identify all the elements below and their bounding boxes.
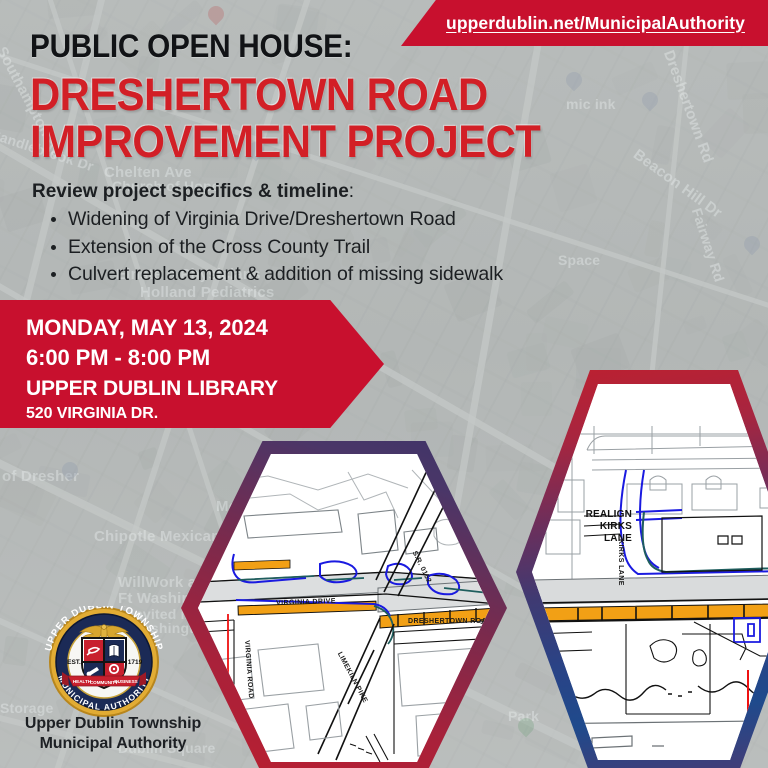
intro-colon: : [349,181,354,202]
event-time: 6:00 PM - 8:00 PM [26,342,384,373]
kicker-text: PUBLIC OPEN HOUSE: [30,30,625,63]
title-line-1: DRESHERTOWN ROAD [30,69,488,120]
event-details-banner: MONDAY, MAY 13, 2024 6:00 PM - 8:00 PM U… [0,300,384,428]
plan-drawing-right [532,384,768,760]
headline-block: PUBLIC OPEN HOUSE: DRESHERTOWN ROAD IMPR… [30,30,670,165]
township-seal: UPPER DUBLIN TOWNSHIP MUNICIPAL AUTHORIT… [34,606,174,718]
intro-line: Review project specifics & timeline: [32,181,354,203]
event-address: 520 VIRGINIA DR. [26,404,384,425]
seal-est-year: 1719 [128,659,143,666]
project-scope-list: Widening of Virginia Drive/Dreshertown R… [48,206,503,289]
list-item: Culvert replacement & addition of missin… [48,261,503,289]
seal-ribbon-right: BUSINESS [114,679,138,684]
org-line-1: Upper Dublin Township [25,715,201,732]
page-title: DRESHERTOWN ROAD IMPROVEMENT PROJECT [30,72,625,165]
seal-graphic: UPPER DUBLIN TOWNSHIP MUNICIPAL AUTHORIT… [34,606,174,718]
list-item: Extension of the Cross County Trail [48,234,503,262]
list-item: Widening of Virginia Drive/Dreshertown R… [48,206,503,234]
event-venue: UPPER DUBLIN LIBRARY [26,375,384,404]
flyer-poster: Southampton RdSandlebrook DrDreshertown … [0,0,768,768]
intro-lead: Review project specifics & timeline [32,181,349,202]
event-date: MONDAY, MAY 13, 2024 [26,313,384,342]
org-line-2: Municipal Authority [40,735,187,752]
plan-drawing-left [198,454,490,762]
title-line-2: IMPROVEMENT PROJECT [30,119,625,165]
plan-road-label: KIRKS LANE [617,539,624,586]
hexagon-left-clip: VIRGINIA DRIVEDRESHERTOWN ROADSR 2024S.R… [198,454,490,762]
plan-road-label: SR 2024 [480,619,490,626]
plan-road-label: DRESHERTOWN ROAD [408,618,490,625]
seal-est-label: EST. [67,659,81,666]
hexagon-right-clip: REALIGN KIRKS LANERELOCATE DRESHER CEMET… [532,384,768,760]
engineering-plan-right: REALIGN KIRKS LANERELOCATE DRESHER CEMET… [532,384,768,760]
organization-name: Upper Dublin Township Municipal Authorit… [0,714,226,755]
engineering-plan-left: VIRGINIA DRIVEDRESHERTOWN ROADSR 2024S.R… [198,454,490,762]
